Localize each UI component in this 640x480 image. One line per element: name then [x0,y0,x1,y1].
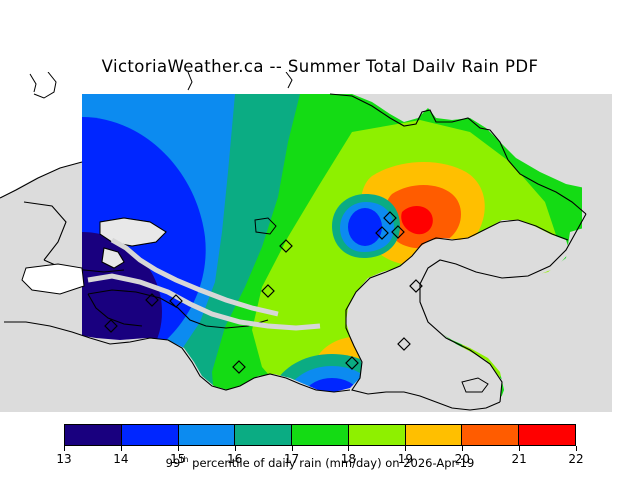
weather-map-page: VictoriaWeather.ca -- Summer Total Daily… [0,0,640,480]
colorbar-tick-22 [576,446,577,451]
colorbar-legend: 13141516171819202122 [0,424,640,480]
colorbar-tick-20 [462,446,463,451]
map-panel[interactable] [0,72,612,412]
colorbar-band-17-18 [292,425,349,445]
colorbar-band-20-21 [462,425,519,445]
colorbar-tick-16 [235,446,236,451]
colorbar-band-18-19 [349,425,406,445]
contour-map[interactable] [0,72,612,412]
colorbar-band-21-22 [519,425,575,445]
caption-percentile-number: 99 [166,456,181,470]
colorbar-tick-21 [519,446,520,451]
colorbar-caption: 99th percentile of daily rain (mm/day) o… [0,455,640,470]
colorbar-band-19-20 [406,425,463,445]
colorbar-band-16-17 [235,425,292,445]
colorbar-swatches [64,424,576,446]
colorbar-tick-18 [348,446,349,451]
colorbar-tick-14 [121,446,122,451]
caption-text: percentile of daily rain (mm/day) on 202… [189,456,475,470]
colorbar-tick-19 [405,446,406,451]
colorbar-band-15-16 [179,425,236,445]
colorbar-tick-17 [292,446,293,451]
colorbar-band-14-15 [122,425,179,445]
colorbar-tick-13 [64,446,65,451]
caption-ordinal-suffix: th [180,455,188,464]
colorbar-tick-15 [178,446,179,451]
colorbar-band-13-14 [65,425,122,445]
